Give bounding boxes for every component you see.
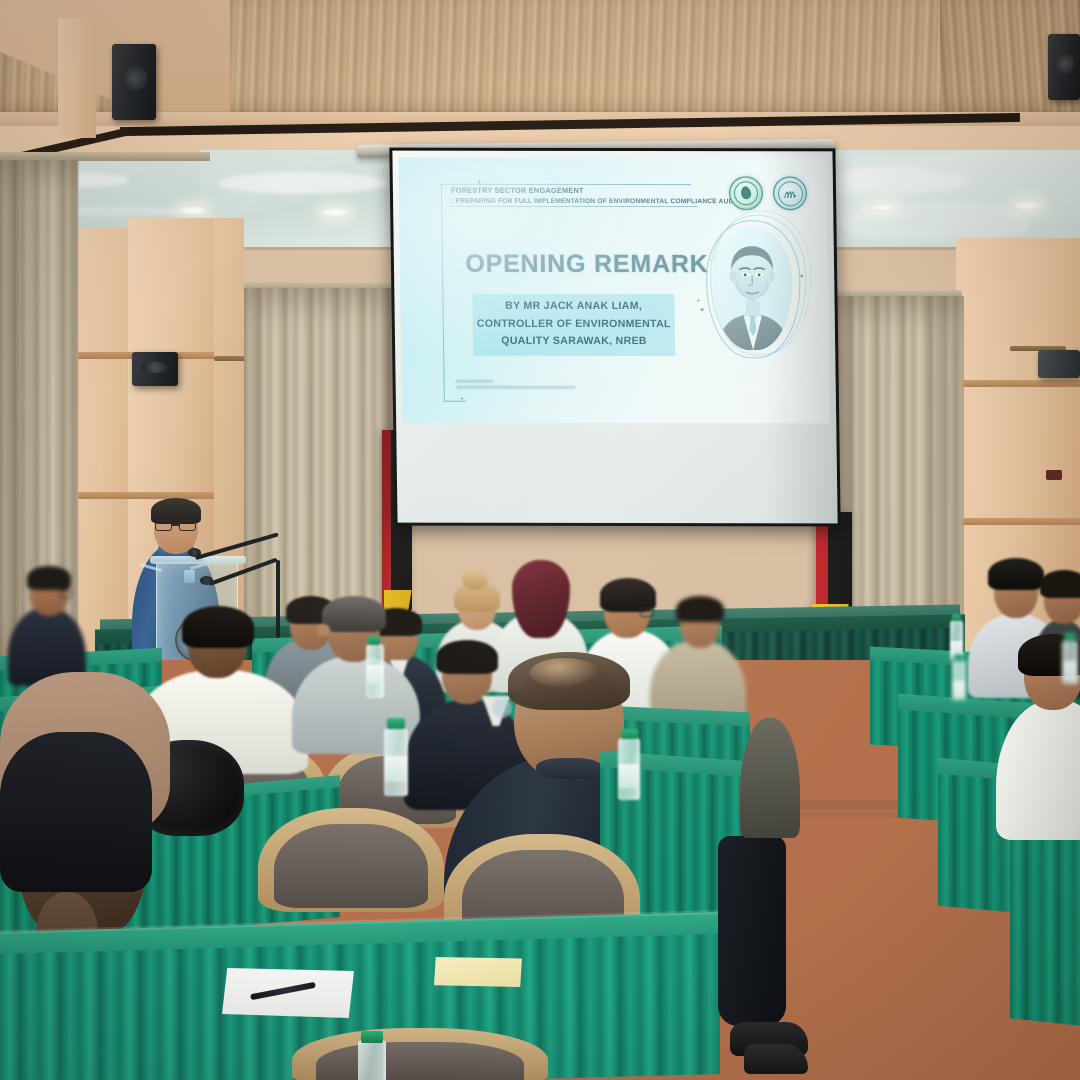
audience-member-back-left [8, 566, 86, 678]
water-bottle [952, 660, 966, 698]
projection-screen: + + + + FORESTRY SECTOR ENGAGEMENT : PRE… [389, 148, 840, 527]
water-bottle [384, 728, 408, 796]
pillar-far-left-upper [58, 18, 96, 138]
slide-subtitle: BY MR JACK ANAK LIAM, CONTROLLER OF ENVI… [472, 298, 675, 351]
microphone-head-1 [188, 548, 201, 557]
plus-marker-icon: + [696, 298, 700, 305]
slide-title: OPENING REMARK [462, 250, 712, 279]
pillar-band [78, 492, 130, 499]
banquet-chair-pad [274, 824, 428, 908]
table-skirt-right-4 [1010, 828, 1080, 1025]
water-bottle [358, 1040, 386, 1080]
ceiling-light [868, 203, 898, 212]
presenter-glasses [155, 520, 197, 531]
wave-mark-icon [783, 186, 797, 200]
slide-subtitle-line-2: CONTROLLER OF ENVIRONMENTAL [473, 315, 675, 333]
water-bottle [618, 738, 640, 800]
accent-dot [800, 274, 803, 277]
slide-subtitle-line-3: QUALITY SARAWAK, NREB [473, 333, 675, 351]
ceiling-light [320, 208, 350, 217]
wall-speaker-top-right [1048, 34, 1080, 100]
wall-speaker-top-left [112, 44, 156, 120]
banquet-chair-pad [316, 1042, 524, 1080]
water-bottle [1062, 640, 1078, 684]
accent-dot [701, 308, 704, 311]
projector-right [1038, 350, 1080, 378]
slide-header-line-1: FORESTRY SECTOR ENGAGEMENT [451, 186, 751, 197]
presentation-slide: + + + + FORESTRY SECTOR ENGAGEMENT : PRE… [398, 158, 830, 424]
projection-screen-surface: + + + + FORESTRY SECTOR ENGAGEMENT : PRE… [392, 151, 837, 524]
conference-hall-photo: + + + + FORESTRY SECTOR ENGAGEMENT : PRE… [0, 0, 1080, 1080]
slide-footer-text [456, 380, 616, 393]
plus-marker-icon: + [460, 396, 464, 403]
wall-speaker-left [132, 352, 178, 386]
portrait-illustration [711, 226, 793, 350]
microphone-head-2 [200, 576, 213, 585]
note-card [434, 957, 522, 987]
ceiling-light [178, 206, 208, 215]
slide-subtitle-line-1: BY MR JACK ANAK LIAM, [472, 298, 674, 316]
curtain-right-b [930, 296, 964, 656]
audience-member-aisle-right [740, 688, 800, 838]
sarawak-agency-logo [773, 176, 807, 210]
hair [512, 560, 570, 638]
pillar-band [78, 352, 130, 359]
shoe [744, 1044, 808, 1074]
audience-member-left-torso [0, 732, 152, 892]
water-bottle [366, 644, 384, 698]
slide-header: FORESTRY SECTOR ENGAGEMENT : PREPARING F… [451, 186, 751, 207]
ceiling-light [1012, 201, 1042, 210]
nreb-logo [729, 176, 763, 210]
pillar-band [956, 380, 1080, 387]
water-bottle [950, 620, 963, 656]
pillar-band [956, 518, 1080, 525]
wall-plate [1046, 470, 1062, 480]
bag-in-aisle [718, 836, 786, 1026]
speaker-portrait [705, 220, 801, 358]
